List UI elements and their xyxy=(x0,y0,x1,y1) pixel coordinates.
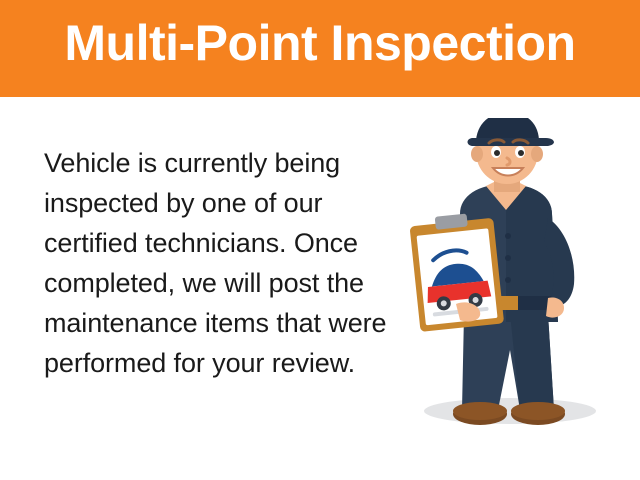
mechanic-illustration xyxy=(398,118,624,436)
body-paragraph: Vehicle is currently being inspected by … xyxy=(44,143,412,383)
slide-root: Multi-Point Inspection Vehicle is curren… xyxy=(0,0,640,480)
page-title: Multi-Point Inspection xyxy=(0,12,640,74)
